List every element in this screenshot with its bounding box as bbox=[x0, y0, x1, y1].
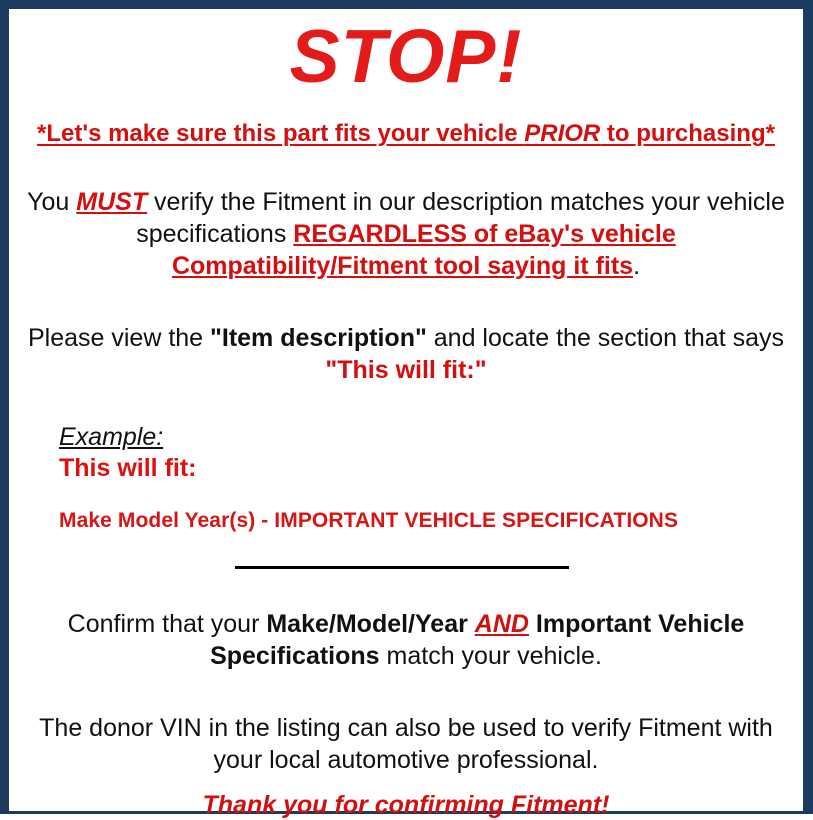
closing-thank-you: Thank you for confirming Fitment! bbox=[23, 790, 789, 820]
and-emphasis: AND bbox=[475, 610, 529, 638]
must-text-3: . bbox=[633, 252, 640, 280]
notice-content: STOP! *Let's make sure this part fits yo… bbox=[9, 19, 803, 811]
confirm-text-1: Confirm that your bbox=[68, 610, 267, 638]
example-label: Example: bbox=[59, 424, 789, 452]
this-will-fit-emphasis: "This will fit:" bbox=[325, 356, 486, 384]
paragraph-confirm: Confirm that your Make/Model/Year AND Im… bbox=[23, 608, 789, 672]
divider-wrapper bbox=[23, 556, 789, 570]
must-text-1: You bbox=[27, 188, 76, 216]
example-spec-line: Make Model Year(s) - IMPORTANT VEHICLE S… bbox=[59, 508, 789, 533]
paragraph-item-description: Please view the "Item description" and l… bbox=[23, 322, 789, 386]
make-model-year-emphasis: Make/Model/Year bbox=[266, 610, 474, 638]
subtitle-text-after: to purchasing* bbox=[600, 120, 775, 147]
subtitle-banner: *Let's make sure this part fits your veh… bbox=[23, 120, 789, 148]
paragraph-must-verify: You MUST verify the Fitment in our descr… bbox=[23, 186, 789, 282]
fitment-notice-frame: STOP! *Let's make sure this part fits yo… bbox=[0, 0, 813, 814]
subtitle-emphasis-prior: PRIOR bbox=[524, 120, 600, 147]
view-text-1: Please view the bbox=[28, 324, 210, 352]
view-text-2: and locate the section that says bbox=[427, 324, 784, 352]
section-divider bbox=[235, 566, 569, 569]
subtitle-text-before: *Let's make sure this part fits your veh… bbox=[37, 120, 524, 147]
paragraph-donor-vin: The donor VIN in the listing can also be… bbox=[23, 712, 789, 776]
example-fit-header: This will fit: bbox=[59, 453, 789, 484]
example-block: Example: This will fit: Make Model Year(… bbox=[23, 424, 789, 534]
page-title: STOP! bbox=[23, 19, 789, 94]
item-description-emphasis: "Item description" bbox=[210, 324, 427, 352]
confirm-text-2: match your vehicle. bbox=[380, 642, 602, 670]
must-emphasis: MUST bbox=[76, 188, 147, 216]
